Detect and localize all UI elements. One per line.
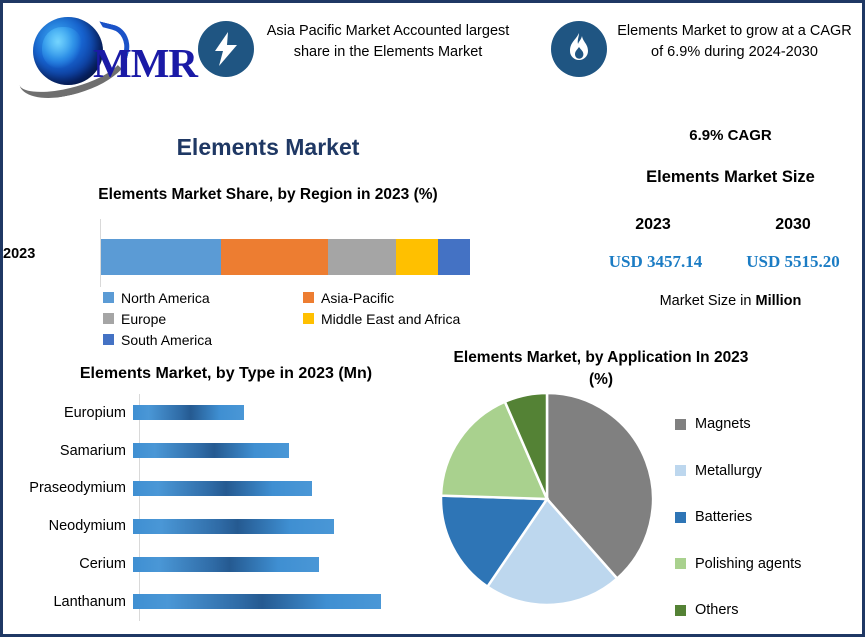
type-bar-row: Lanthanum <box>3 583 433 621</box>
type-bar <box>133 594 381 609</box>
flame-glyph <box>566 33 592 65</box>
highlight-cagr-text: Elements Market to grow at a CAGR of 6.9… <box>607 21 852 63</box>
pie-legend-item: Polishing agents <box>675 541 860 588</box>
pie-legend-item: Metallurgy <box>675 448 860 495</box>
pie-legend-item: Batteries <box>675 494 860 541</box>
legend-swatch-icon <box>675 465 686 476</box>
market-size-unit-value: Million <box>755 293 801 309</box>
region-legend-label: Europe <box>121 311 166 327</box>
legend-swatch-icon <box>675 558 686 569</box>
base-year-label: 2023 <box>603 216 703 234</box>
type-chart-title: Elements Market, by Type in 2023 (Mn) <box>21 365 431 383</box>
region-chart-title: Elements Market Share, by Region in 2023… <box>3 186 533 204</box>
forecast-year-label: 2030 <box>743 216 843 234</box>
cagr-value: 6.9% CAGR <box>603 127 858 144</box>
logo-text: MMR <box>93 39 197 87</box>
type-bar-label: Europium <box>3 405 133 421</box>
infographic-canvas: MMR Asia Pacific Market Accounted larges… <box>0 0 865 637</box>
type-bar-label: Samarium <box>3 443 133 459</box>
pie-legend-label: Metallurgy <box>695 463 762 479</box>
legend-swatch-icon <box>103 292 114 303</box>
type-bar-row: Samarium <box>3 432 433 470</box>
type-bar <box>133 557 319 572</box>
market-size-title: Elements Market Size <box>603 166 858 188</box>
pie-legend-item: Magnets <box>675 401 860 448</box>
region-segment-3 <box>396 239 438 275</box>
region-segment-4 <box>438 239 470 275</box>
type-bar-row: Praseodymium <box>3 470 433 508</box>
market-size-unit: Market Size in Million <box>603 293 858 309</box>
legend-swatch-icon <box>675 419 686 430</box>
type-bar <box>133 405 244 420</box>
type-bar <box>133 519 334 534</box>
legend-swatch-icon <box>303 313 314 324</box>
region-segment-2 <box>328 239 396 275</box>
pie-legend-label: Batteries <box>695 509 752 525</box>
pie-chart-title: Elements Market, by Application In 2023 … <box>446 347 756 391</box>
base-year-value: USD 3457.14 <box>598 252 713 272</box>
pie-legend-label: Magnets <box>695 416 751 432</box>
legend-swatch-icon <box>103 334 114 345</box>
region-category-label: 2023 <box>3 246 35 262</box>
header: MMR Asia Pacific Market Accounted larges… <box>3 3 862 111</box>
type-bar-label: Neodymium <box>3 518 133 534</box>
pie-legend-label: Others <box>695 602 739 618</box>
pie-legend-label: Polishing agents <box>695 556 801 572</box>
type-bar-label: Cerium <box>3 556 133 572</box>
region-legend-label: Asia-Pacific <box>321 290 394 306</box>
type-bar-rows: EuropiumSamariumPraseodymiumNeodymiumCer… <box>3 394 433 621</box>
pie-legend-item: Others <box>675 587 860 634</box>
type-bar <box>133 481 312 496</box>
pie-legend: MagnetsMetallurgyBatteriesPolishing agen… <box>675 401 860 634</box>
lightning-bolt-icon <box>198 21 254 77</box>
highlight-asia-pacific-text: Asia Pacific Market Accounted largest sh… <box>254 21 512 63</box>
type-bar-label: Lanthanum <box>3 594 133 610</box>
legend-swatch-icon <box>103 313 114 324</box>
region-legend-item: South America <box>103 329 303 350</box>
highlight-asia-pacific: Asia Pacific Market Accounted largest sh… <box>198 21 518 77</box>
highlight-cagr: Elements Market to grow at a CAGR of 6.9… <box>551 21 856 77</box>
pie-chart <box>441 391 653 607</box>
legend-swatch-icon <box>675 605 686 616</box>
region-stacked-bar <box>101 239 470 275</box>
region-segment-0 <box>101 239 221 275</box>
type-bar-row: Cerium <box>3 545 433 583</box>
mmr-logo: MMR <box>15 9 195 97</box>
region-legend-label: North America <box>121 290 210 306</box>
region-legend-item: Asia-Pacific <box>303 287 503 308</box>
region-legend-item: North America <box>103 287 303 308</box>
region-legend-item: Europe <box>103 308 303 329</box>
type-bar <box>133 443 289 458</box>
type-bar-row: Neodymium <box>3 507 433 545</box>
pie-chart-svg <box>441 391 653 607</box>
region-legend-label: Middle East and Africa <box>321 311 460 327</box>
page-title: Elements Market <box>3 134 533 161</box>
region-legend-label: South America <box>121 332 212 348</box>
type-bar-label: Praseodymium <box>3 480 133 496</box>
region-legend-item: Middle East and Africa <box>303 308 503 329</box>
region-legend: North AmericaAsia-PacificEuropeMiddle Ea… <box>103 287 503 350</box>
legend-swatch-icon <box>675 512 686 523</box>
lightning-bolt-glyph <box>213 32 239 66</box>
legend-swatch-icon <box>303 292 314 303</box>
forecast-year-value: USD 5515.20 <box>733 252 853 272</box>
type-bar-row: Europium <box>3 394 433 432</box>
market-size-unit-prefix: Market Size in <box>660 293 756 309</box>
flame-icon <box>551 21 607 77</box>
region-segment-1 <box>221 239 328 275</box>
